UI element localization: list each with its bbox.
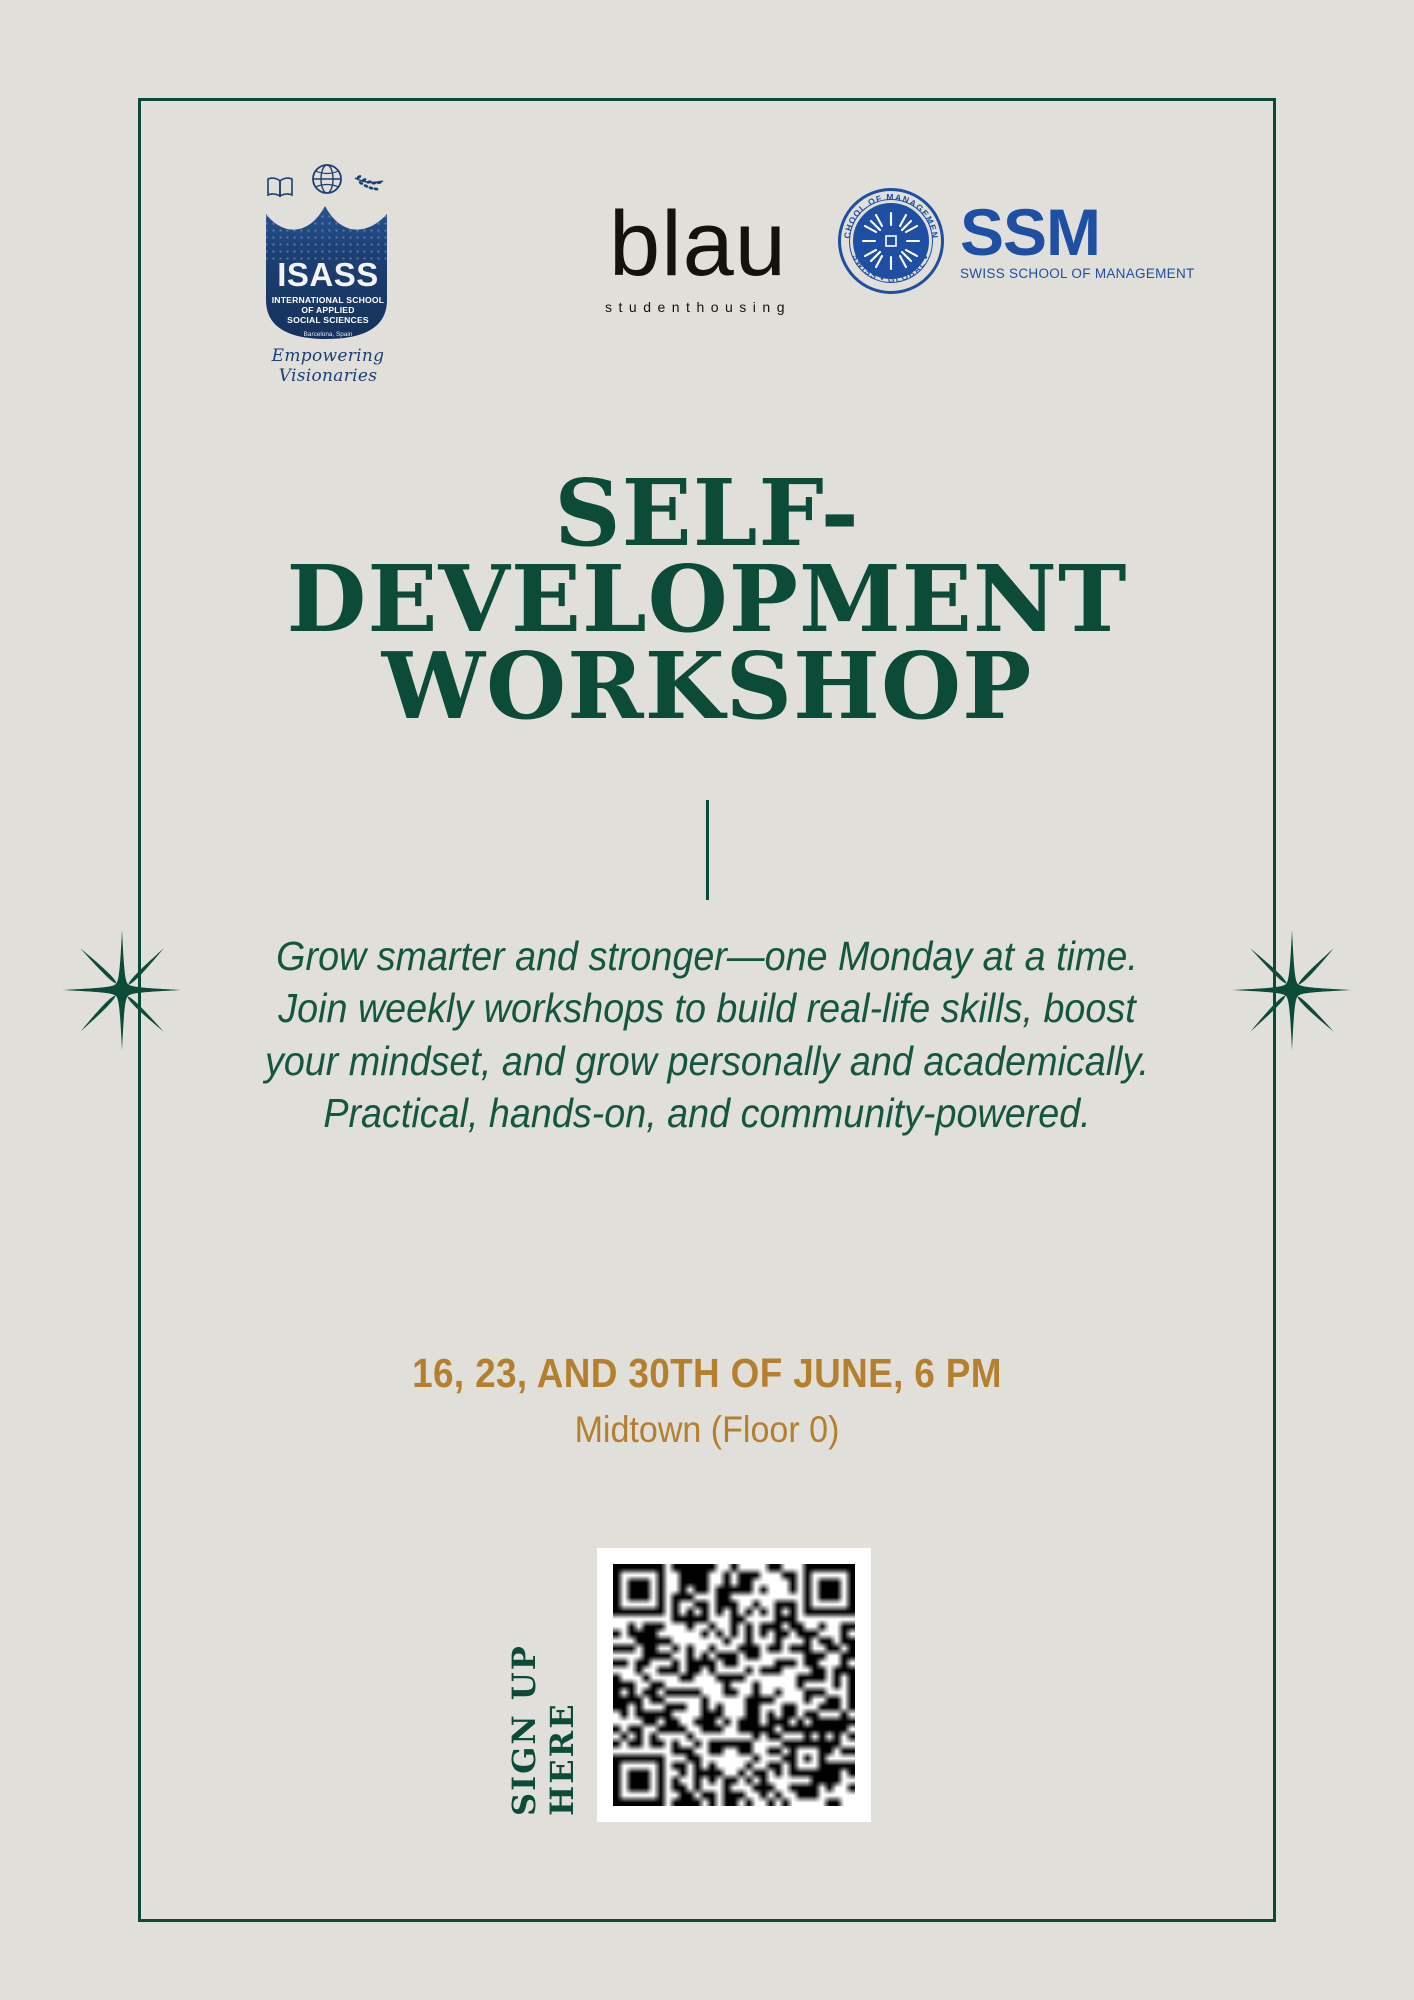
sparkle-star-icon-right bbox=[1232, 930, 1352, 1050]
isass-line-2: OF APPLIED bbox=[263, 305, 393, 315]
signup-label: SIGN UP HERE bbox=[505, 1554, 581, 1816]
qr-code-card[interactable] bbox=[597, 1548, 871, 1822]
event-location: Midtown (Floor 0) bbox=[213, 1409, 1201, 1451]
isass-shield: ISASS INTERNATIONAL SCHOOL OF APPLIED SO… bbox=[263, 192, 393, 342]
blau-wordmark: blau bbox=[538, 202, 858, 287]
logo-strip: ISASS INTERNATIONAL SCHOOL OF APPLIED SO… bbox=[138, 150, 1276, 400]
poster-canvas: ISASS INTERNATIONAL SCHOOL OF APPLIED SO… bbox=[0, 0, 1414, 2000]
sparkle-star-icon-left bbox=[62, 930, 182, 1050]
isass-logo: ISASS INTERNATIONAL SCHOOL OF APPLIED SO… bbox=[228, 160, 428, 386]
isass-acronym: ISASS bbox=[263, 258, 393, 291]
headline-line-3: WORKSHOP bbox=[170, 643, 1244, 729]
blau-subtitle: studenthousing bbox=[538, 299, 858, 315]
event-date: 16, 23, AND 30TH OF JUNE, 6 PM bbox=[224, 1350, 1191, 1397]
event-details: 16, 23, AND 30TH OF JUNE, 6 PM Midtown (… bbox=[170, 1350, 1244, 1451]
isass-line-1: INTERNATIONAL SCHOOL bbox=[263, 295, 393, 305]
headline-line-1: SELF- bbox=[170, 470, 1244, 556]
shield-text: ISASS INTERNATIONAL SCHOOL OF APPLIED SO… bbox=[263, 258, 393, 338]
isass-location: Barcelona, Spain bbox=[263, 331, 393, 338]
signup-block[interactable]: SIGN UP HERE bbox=[505, 1548, 871, 1822]
isass-tagline: Empowering Visionaries bbox=[228, 346, 428, 386]
ssm-subtitle: SWISS SCHOOL OF MANAGEMENT bbox=[960, 266, 1268, 281]
qr-code[interactable] bbox=[613, 1564, 855, 1806]
ssm-sunburst-icon bbox=[859, 209, 923, 273]
body-paragraph: Grow smarter and stronger—one Monday at … bbox=[241, 930, 1174, 1140]
shield-dot-pattern bbox=[263, 192, 393, 264]
headline-line-2: DEVELOPMENT bbox=[170, 556, 1244, 642]
ssm-seal-icon: SCHOOL OF MANAGEMENT SWISS • GLOBAL • bbox=[838, 188, 944, 294]
poster-headline: SELF- DEVELOPMENT WORKSHOP bbox=[170, 470, 1244, 729]
vertical-divider bbox=[706, 800, 709, 900]
isass-line-3: SOCIAL SCIENCES bbox=[263, 315, 393, 325]
ssm-logo: SCHOOL OF MANAGEMENT SWISS • GLOBAL • bbox=[838, 188, 1268, 294]
ssm-wordmark: SSM bbox=[960, 201, 1268, 264]
blau-logo: blau studenthousing bbox=[538, 202, 858, 315]
